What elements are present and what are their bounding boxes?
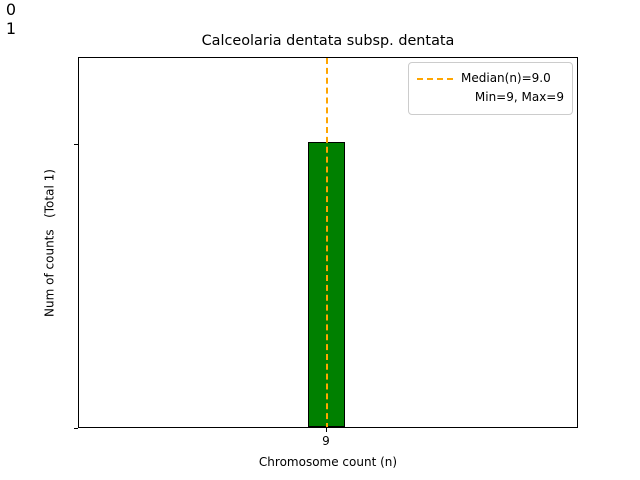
y-axis-label: Num of counts (Total 1) [43, 169, 57, 317]
legend-label-minmax: Min=9, Max=9 [461, 88, 564, 107]
ytick-mark-1 [74, 144, 78, 145]
ytick-label-0: 0 [0, 0, 16, 19]
legend-label-median: Median(n)=9.0 [461, 69, 564, 88]
legend-entry-median: Median(n)=9.0 [417, 69, 564, 88]
legend-dashed-line-icon [417, 78, 453, 80]
median-vline [326, 58, 328, 428]
legend-box: Median(n)=9.0 Min=9, Max=9 [408, 62, 573, 115]
figure-canvas: Calceolaria dentata subsp. dentata 0 1 9… [0, 0, 640, 480]
x-axis-label: Chromosome count (n) [78, 455, 578, 469]
xtick-mark-9 [326, 428, 327, 432]
chart-title: Calceolaria dentata subsp. dentata [78, 32, 578, 50]
legend-entry-minmax: Min=9, Max=9 [417, 88, 564, 107]
xtick-label-9: 9 [316, 435, 336, 448]
y-axis-label-wrapper: Num of counts (Total 1) [39, 58, 55, 429]
ytick-label-1: 1 [0, 19, 16, 38]
ytick-mark-0 [74, 428, 78, 429]
